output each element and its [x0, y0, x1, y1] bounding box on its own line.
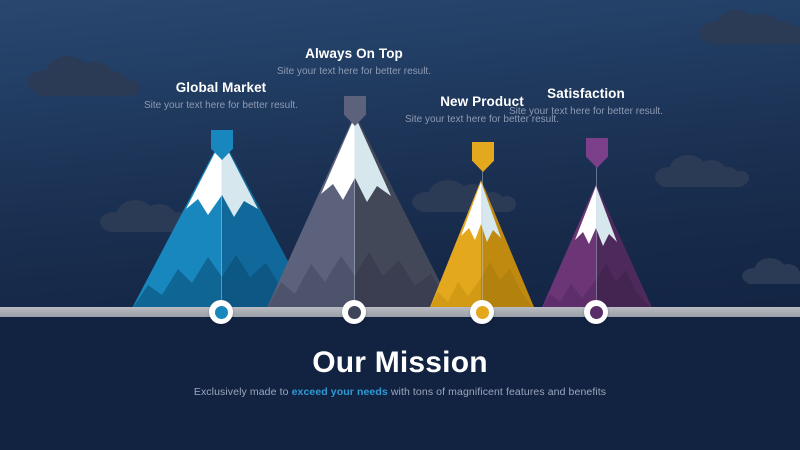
slide-canvas: Global Market Site your text here for be… — [0, 0, 800, 450]
stem-new-product — [482, 170, 483, 310]
subheadline-part-one: Exclusively made to — [194, 386, 292, 398]
mountain-satisfaction — [540, 184, 654, 312]
mountain-always-on-top — [265, 114, 455, 312]
marker-always-on-top[interactable] — [342, 300, 366, 324]
marker-satisfaction[interactable] — [584, 300, 608, 324]
callout-always-on-top: Always On Top Site your text here for be… — [259, 46, 449, 79]
marker-dot-always-on-top — [348, 306, 361, 319]
callout-title-global-market: Global Market — [126, 80, 316, 96]
callout-desc-global-market: Site your text here for better result. — [126, 99, 316, 114]
callout-title-satisfaction: Satisfaction — [491, 86, 681, 102]
marker-dot-global-market — [215, 306, 228, 319]
marker-dot-new-product — [476, 306, 489, 319]
ground-area — [0, 317, 800, 450]
stem-satisfaction — [596, 166, 597, 310]
callout-global-market: Global Market Site your text here for be… — [126, 80, 316, 113]
slide-subheadline: Exclusively made to exceed your needs wi… — [0, 386, 800, 398]
callout-desc-satisfaction: Site your text here for better result. — [491, 105, 681, 120]
timeline-rail — [0, 307, 800, 317]
callout-satisfaction: Satisfaction Site your text here for bet… — [491, 86, 681, 119]
marker-new-product[interactable] — [470, 300, 494, 324]
marker-global-market[interactable] — [209, 300, 233, 324]
stem-global-market — [221, 158, 222, 310]
subheadline-highlight: exceed your needs — [292, 386, 388, 398]
marker-dot-satisfaction — [590, 306, 603, 319]
callout-desc-always-on-top: Site your text here for better result. — [259, 65, 449, 80]
callout-title-always-on-top: Always On Top — [259, 46, 449, 62]
subheadline-part-two: with tons of magnificent features and be… — [388, 386, 606, 398]
slide-headline: Our Mission — [0, 346, 800, 380]
stem-always-on-top — [354, 124, 355, 310]
